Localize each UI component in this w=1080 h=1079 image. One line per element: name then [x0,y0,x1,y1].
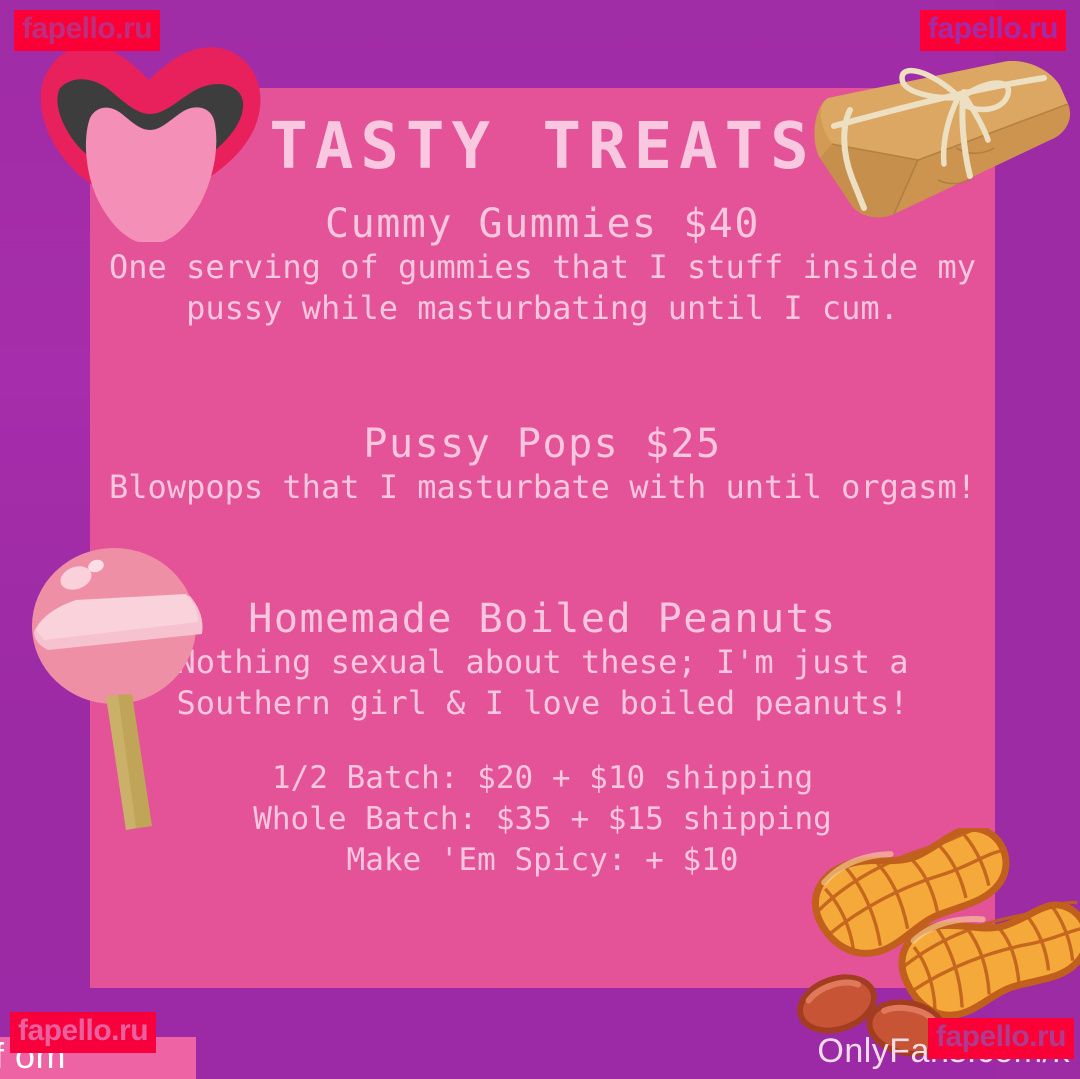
item-desc-gummies-line2: pussy while masturbating until I cum. [90,288,995,329]
item-desc-peanuts-line1: Nothing sexual about these; I'm just a [90,642,995,683]
lollipop-icon [14,534,224,834]
item-desc-peanuts-line2: Southern girl & I love boiled peanuts! [90,683,995,724]
price-line-half-batch: 1/2 Batch: $20 + $10 shipping [90,758,995,799]
watermark-top-right: fapello.ru [920,10,1066,51]
lips-tongue-icon [34,22,264,242]
item-desc-pussy-pops-line1: Blowpops that I masturbate with until or… [90,467,995,508]
menu-item-pussy-pops: Pussy Pops $25 Blowpops that I masturbat… [90,421,995,508]
item-desc-gummies-line1: One serving of gummies that I stuff insi… [90,247,995,288]
watermark-bottom-left: fapello.ru [10,1012,156,1053]
watermark-bottom-right: fapello.ru [928,1018,1074,1059]
watermark-top-left: fapello.ru [14,10,160,51]
menu-item-boiled-peanuts: Homemade Boiled Peanuts Nothing sexual a… [90,596,995,724]
wrapped-parcel-icon [798,48,1076,233]
poster-canvas: TASTY TREATS Cummy Gummies $40 One servi… [0,0,1080,1079]
item-heading-boiled-peanuts: Homemade Boiled Peanuts [90,596,995,642]
item-heading-pussy-pops: Pussy Pops $25 [90,421,995,467]
